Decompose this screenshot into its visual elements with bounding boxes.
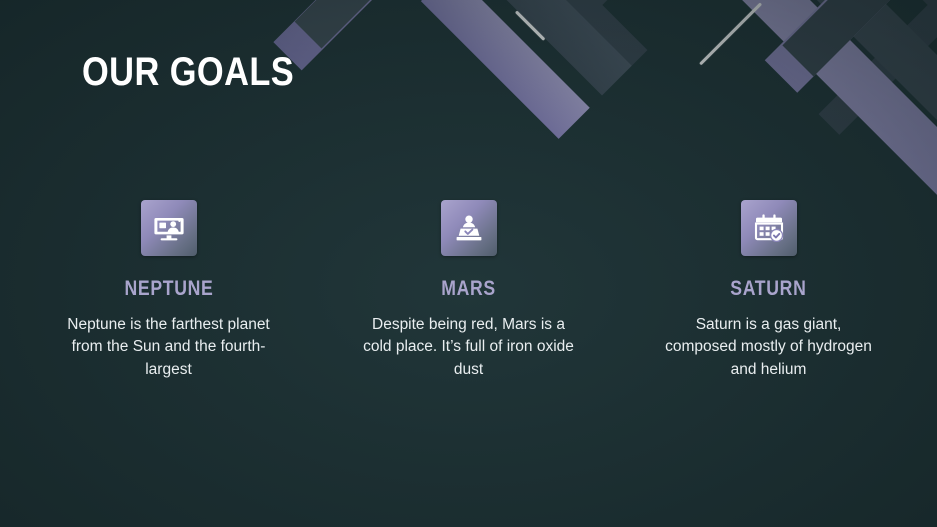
goal-column-saturn: SATURN Saturn is a gas giant, composed m… [656,200,882,381]
goal-body: Saturn is a gas giant, composed mostly o… [661,314,876,381]
goal-column-neptune: NEPTUNE Neptune is the farthest planet f… [56,200,282,381]
podium-speaker-icon [441,200,497,256]
slide-content: OUR GOALS NEPTUNE Neptune is the [0,0,937,527]
goal-title: SATURN [730,278,806,299]
goal-column-mars: MARS Despite being red, Mars is a cold p… [356,200,582,381]
monitor-person-icon [141,200,197,256]
goal-body: Neptune is the farthest planet from the … [61,314,276,381]
goal-title: MARS [441,278,496,299]
page-title: OUR GOALS [82,52,294,92]
goal-title: NEPTUNE [124,278,213,299]
presentation-slide: OUR GOALS NEPTUNE Neptune is the [0,0,937,527]
calendar-check-icon [741,200,797,256]
goals-columns: NEPTUNE Neptune is the farthest planet f… [0,200,937,381]
goal-body: Despite being red, Mars is a cold place.… [361,314,576,381]
